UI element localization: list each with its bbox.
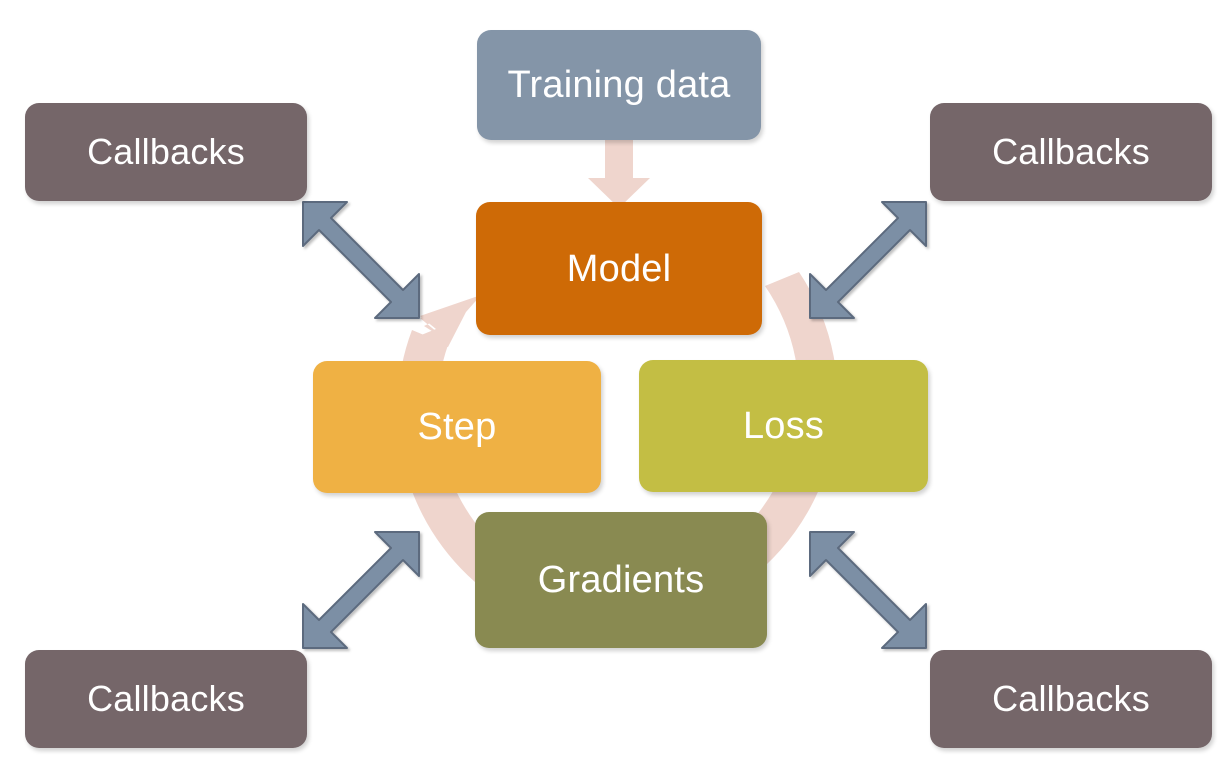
node-model[interactable]: Model [476, 202, 762, 335]
node-callbacks-top-left[interactable]: Callbacks [25, 103, 307, 201]
callback-arrow-bottom-right[interactable] [810, 532, 926, 648]
node-loss-label: Loss [743, 407, 824, 445]
node-step[interactable]: Step [313, 361, 601, 493]
node-loss[interactable]: Loss [639, 360, 928, 492]
diagram-canvas: Training data Model Step Loss Gradients … [0, 0, 1229, 777]
node-callbacks-bottom-left[interactable]: Callbacks [25, 650, 307, 748]
callback-arrow-top-right[interactable] [810, 202, 926, 318]
node-gradients[interactable]: Gradients [475, 512, 767, 648]
node-training-data-label: Training data [508, 66, 731, 104]
node-callbacks-bottom-left-label: Callbacks [87, 681, 245, 717]
callback-arrow-top-left[interactable] [303, 202, 419, 318]
node-callbacks-top-right-label: Callbacks [992, 134, 1150, 170]
node-callbacks-top-right[interactable]: Callbacks [930, 103, 1212, 201]
node-callbacks-bottom-right[interactable]: Callbacks [930, 650, 1212, 748]
callback-arrow-bottom-left[interactable] [303, 532, 419, 648]
node-step-label: Step [418, 408, 497, 446]
node-training-data[interactable]: Training data [477, 30, 761, 140]
node-callbacks-top-left-label: Callbacks [87, 134, 245, 170]
node-model-label: Model [567, 250, 672, 288]
node-gradients-label: Gradients [538, 561, 705, 599]
node-callbacks-bottom-right-label: Callbacks [992, 681, 1150, 717]
